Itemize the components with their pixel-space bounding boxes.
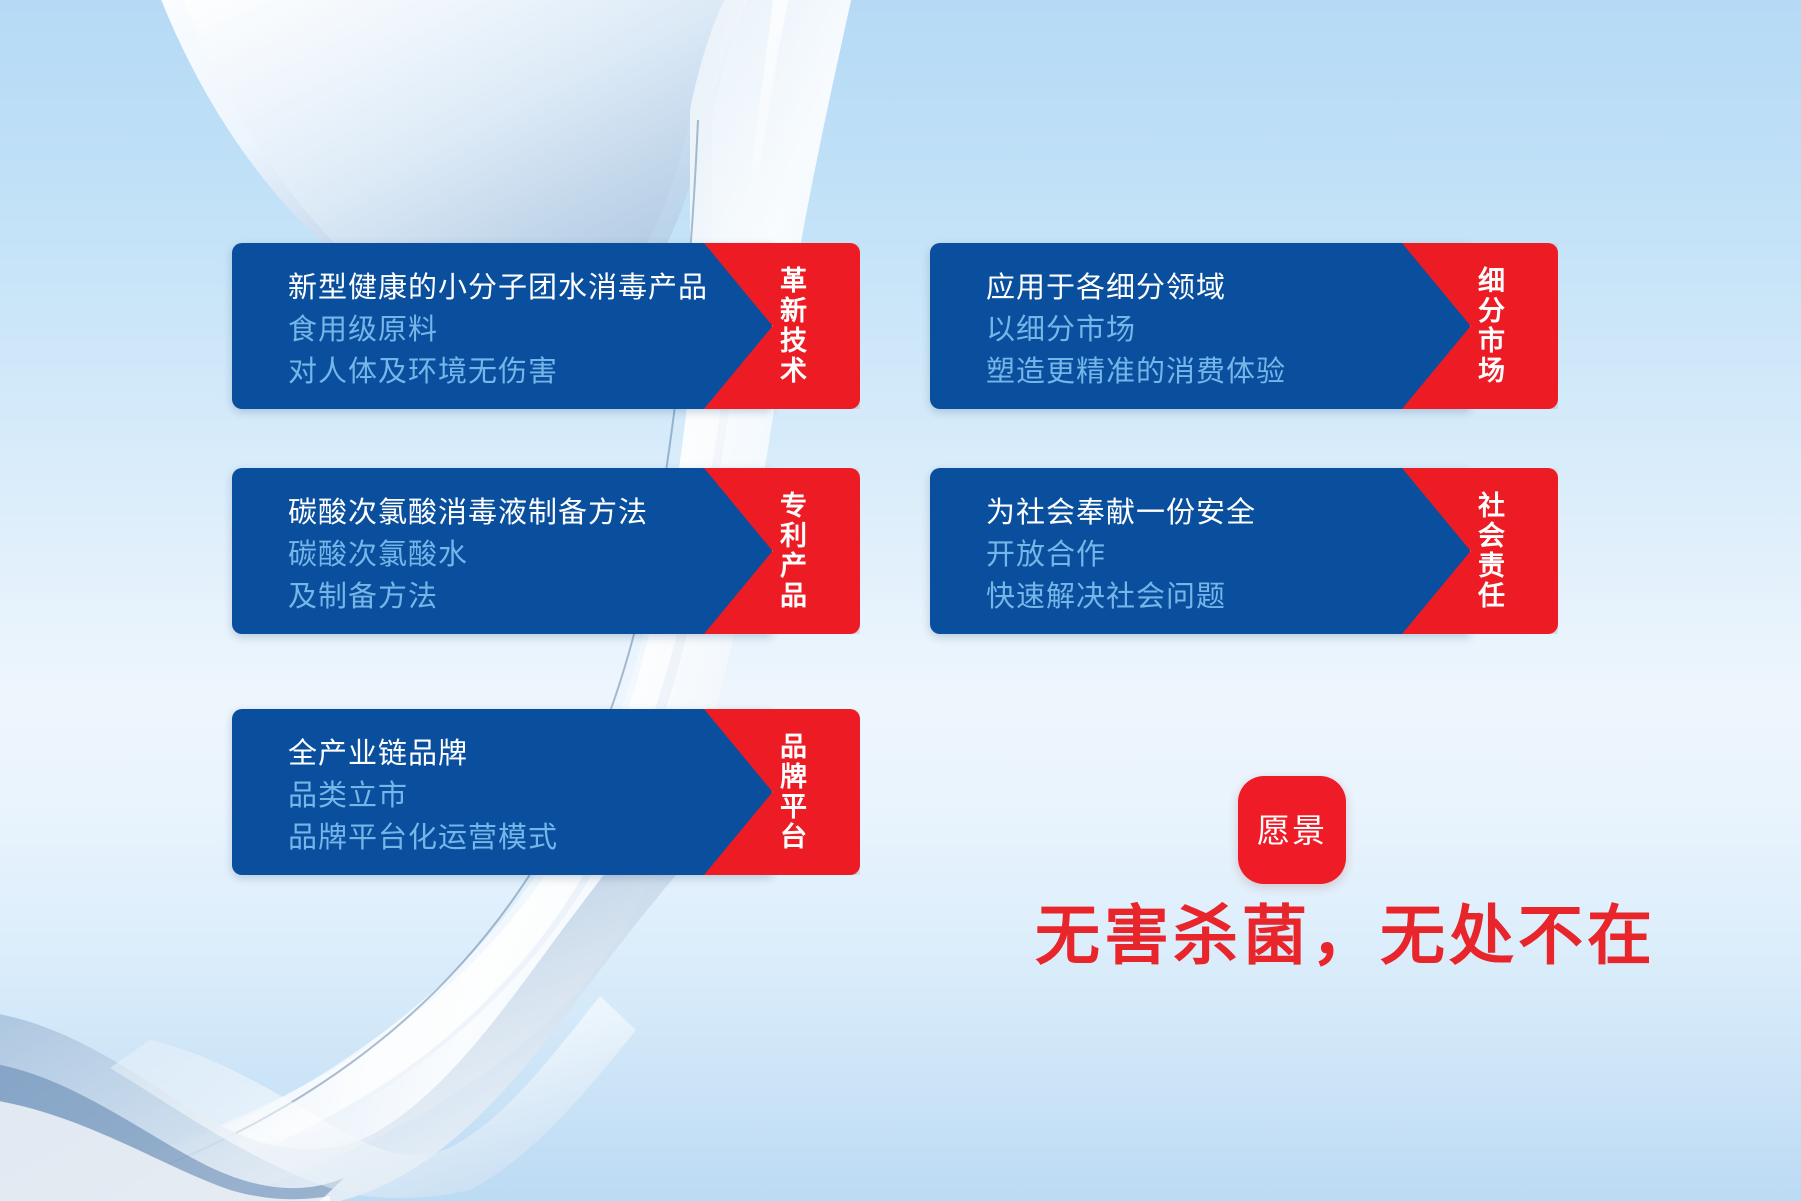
card-tab-label: 社会责任 — [1472, 491, 1506, 611]
card-primary-line: 全产业链品牌 — [288, 733, 772, 775]
card-secondary-line-2: 快速解决社会问题 — [986, 576, 1470, 618]
vision-badge: 愿景 — [1238, 776, 1346, 884]
card-body: 为社会奉献一份安全 开放合作 快速解决社会问题 — [930, 468, 1470, 634]
vision-slogan: 无害杀菌，无处不在 — [1035, 900, 1555, 972]
card-segment-market[interactable]: 应用于各细分领域 以细分市场 塑造更精准的消费体验 细分市场 — [930, 243, 1558, 409]
card-patent-product[interactable]: 碳酸次氯酸消毒液制备方法 碳酸次氯酸水 及制备方法 专利产品 — [232, 468, 860, 634]
card-tab-label: 细分市场 — [1472, 266, 1506, 386]
card-secondary-line-2: 品牌平台化运营模式 — [288, 817, 772, 859]
card-secondary-line-2: 塑造更精准的消费体验 — [986, 351, 1470, 393]
card-secondary-line-1: 开放合作 — [986, 534, 1470, 576]
card-primary-line: 为社会奉献一份安全 — [986, 492, 1470, 534]
card-secondary-line-1: 碳酸次氯酸水 — [288, 534, 772, 576]
slide-canvas: 新型健康的小分子团水消毒产品 食用级原料 对人体及环境无伤害 革新技术 应用于各… — [0, 0, 1801, 1201]
card-secondary-line-2: 及制备方法 — [288, 576, 772, 618]
card-tab-label: 革新技术 — [774, 266, 808, 386]
card-secondary-line-1: 以细分市场 — [986, 309, 1470, 351]
card-body: 新型健康的小分子团水消毒产品 食用级原料 对人体及环境无伤害 — [232, 243, 772, 409]
card-body: 碳酸次氯酸消毒液制备方法 碳酸次氯酸水 及制备方法 — [232, 468, 772, 634]
card-tab-label: 品牌平台 — [774, 732, 808, 852]
vision-badge-label: 愿景 — [1257, 814, 1327, 847]
card-primary-line: 应用于各细分领域 — [986, 267, 1470, 309]
card-secondary-line-1: 食用级原料 — [288, 309, 772, 351]
card-primary-line: 新型健康的小分子团水消毒产品 — [288, 267, 772, 309]
card-body: 全产业链品牌 品类立市 品牌平台化运营模式 — [232, 709, 772, 875]
card-innovation[interactable]: 新型健康的小分子团水消毒产品 食用级原料 对人体及环境无伤害 革新技术 — [232, 243, 860, 409]
card-primary-line: 碳酸次氯酸消毒液制备方法 — [288, 492, 772, 534]
card-body: 应用于各细分领域 以细分市场 塑造更精准的消费体验 — [930, 243, 1470, 409]
card-brand-platform[interactable]: 全产业链品牌 品类立市 品牌平台化运营模式 品牌平台 — [232, 709, 860, 875]
card-secondary-line-2: 对人体及环境无伤害 — [288, 351, 772, 393]
card-tab-label: 专利产品 — [774, 491, 808, 611]
card-social-responsibility[interactable]: 为社会奉献一份安全 开放合作 快速解决社会问题 社会责任 — [930, 468, 1558, 634]
card-secondary-line-1: 品类立市 — [288, 775, 772, 817]
